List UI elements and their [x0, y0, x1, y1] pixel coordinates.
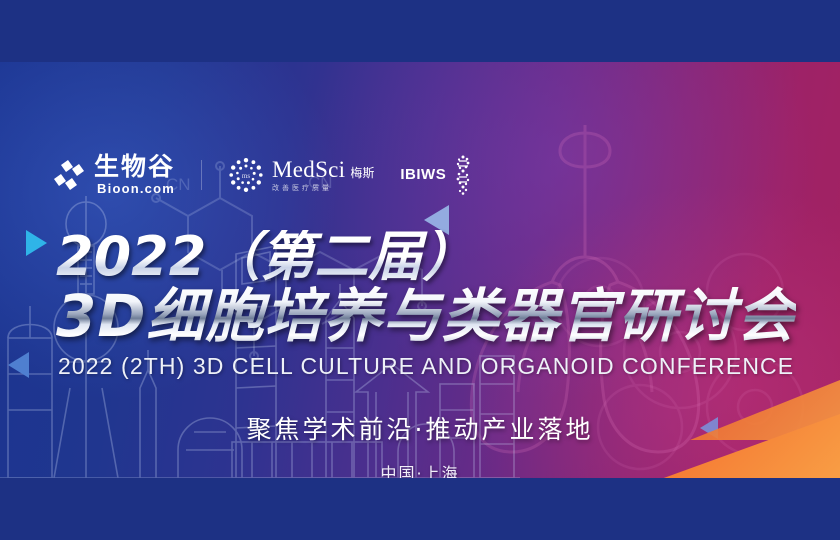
logo-ibiws[interactable]: IBIWS	[400, 155, 472, 195]
logo-bioon[interactable]: 生物谷 Bioon.com	[52, 154, 175, 195]
event-info-block: 聚焦学术前沿·推动产业落地 中国·上海 时间：9月29-30日	[0, 410, 840, 478]
sponsor-logo-bar: 生物谷 Bioon.com	[52, 154, 472, 195]
dot-circle-icon: ms	[228, 157, 264, 193]
top-band	[0, 0, 840, 62]
medsci-tagline: 改善医疗质量	[272, 185, 374, 192]
logo-medsci[interactable]: ms MedSci 梅斯 改善医疗质量	[228, 157, 374, 193]
ibiws-label: IBIWS	[400, 166, 446, 183]
medsci-en-label: MedSci	[272, 158, 345, 181]
pinwheel-icon	[52, 158, 86, 192]
bioon-cn-label: 生物谷	[94, 154, 175, 179]
triangle-accent-blue-left	[8, 352, 29, 378]
banner-page: CN CN	[0, 0, 840, 540]
event-location: 中国·上海	[0, 460, 840, 478]
logo-divider	[201, 160, 202, 190]
conference-banner: CN CN	[0, 62, 840, 478]
triangle-accent-cyan	[26, 230, 47, 256]
medsci-cn-label: 梅斯	[350, 167, 374, 179]
bioon-en-label: Bioon.com	[94, 182, 175, 195]
svg-text:ms: ms	[242, 172, 250, 180]
edition-title: 2022（第二届）	[56, 230, 796, 284]
dna-helix-icon	[454, 155, 472, 195]
headline-block: 2022（第二届） 3D细胞培养与类器官研讨会 2022 (2TH) 3D CE…	[56, 230, 796, 380]
conference-title: 3D细胞培养与类器官研讨会	[56, 286, 796, 346]
event-slogan: 聚焦学术前沿·推动产业落地	[0, 410, 840, 446]
conference-title-english: 2022 (2TH) 3D CELL CULTURE AND ORGANOID …	[58, 353, 796, 380]
bottom-band	[0, 478, 840, 540]
